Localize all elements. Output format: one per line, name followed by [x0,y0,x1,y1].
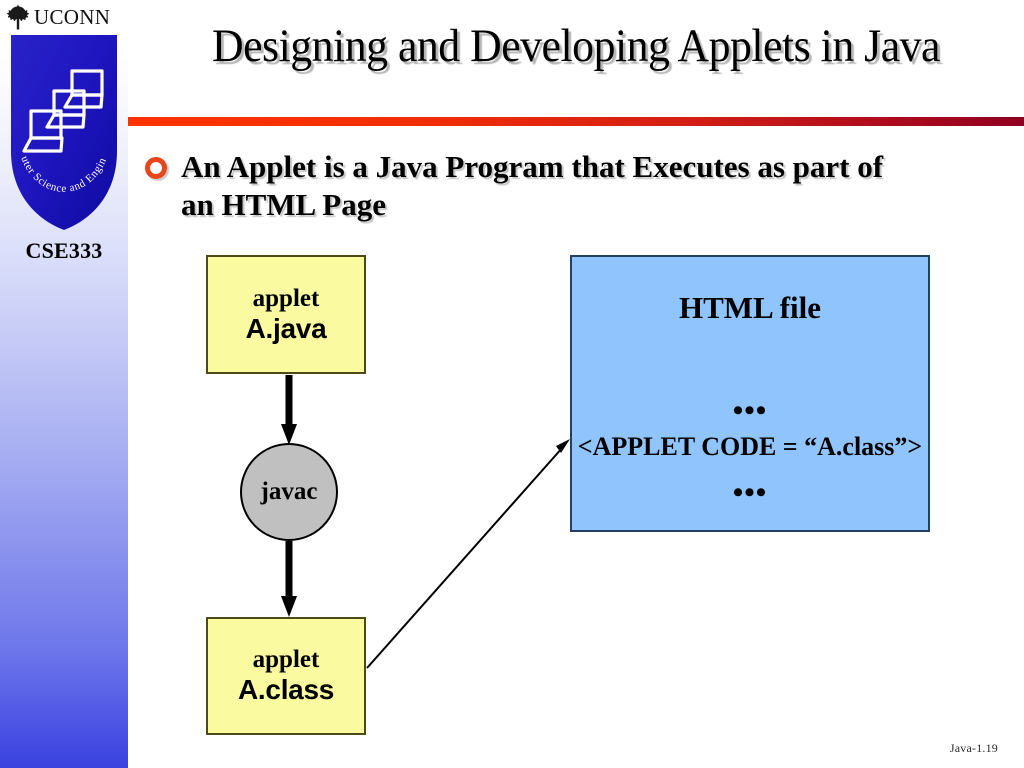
node-class-line1: applet [253,646,320,674]
node-class-line2: A.class [238,674,334,705]
applet-flow-diagram: applet A.java javac applet A.class HTML … [0,0,1024,768]
slide-number: Java-1.19 [950,741,998,756]
node-source-line2: A.java [246,313,327,344]
html-file-title: HTML file [679,290,821,326]
node-javac-compiler: javac [240,443,338,541]
node-javac-label: javac [261,478,318,506]
node-source-line1: applet [253,285,320,313]
html-ellipsis-bottom: ••• [733,478,768,508]
node-applet-source: applet A.java [206,255,366,374]
node-applet-class: applet A.class [206,617,366,735]
html-ellipsis-top: ••• [733,396,768,426]
html-applet-tag: <APPLET CODE = “A.class”> [578,432,922,462]
slide-canvas: UCONN [0,0,1024,768]
node-html-file: HTML file ••• <APPLET CODE = “A.class”> … [570,255,930,532]
